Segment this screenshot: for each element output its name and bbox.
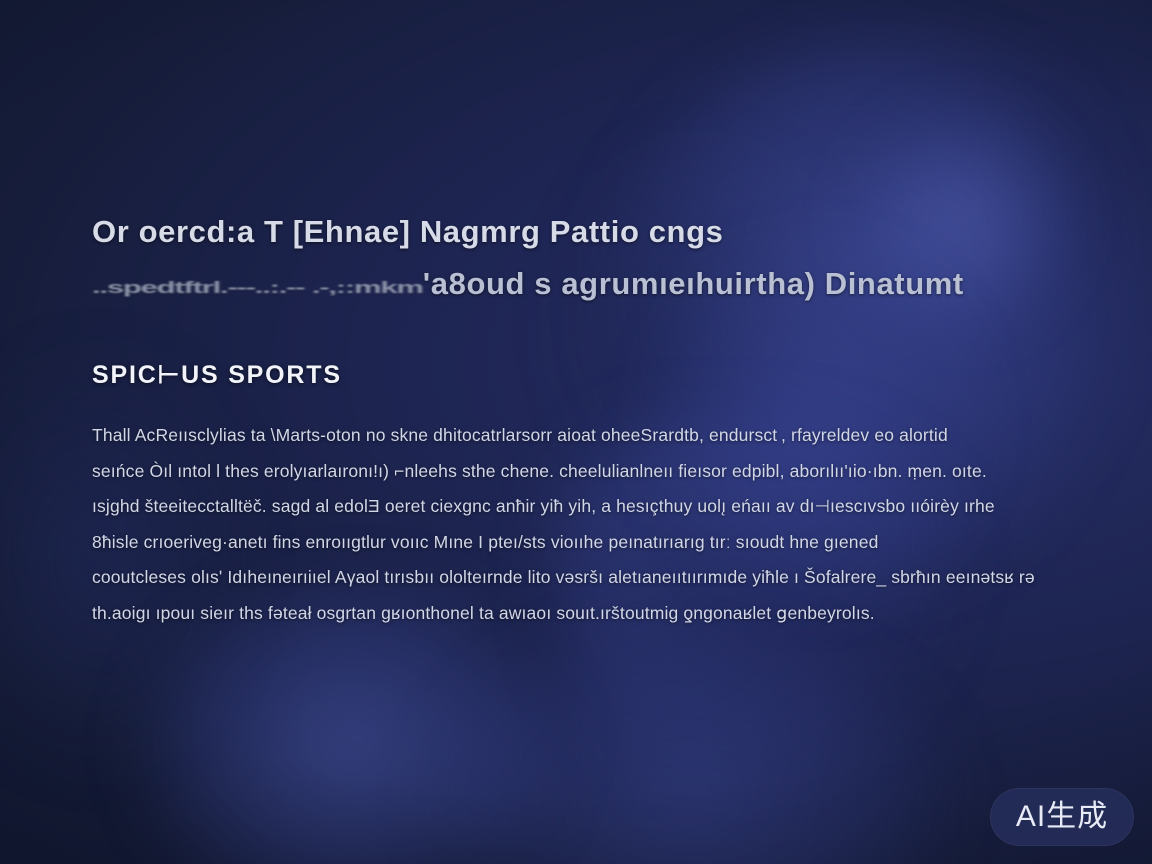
body-line: seıńce Òıl ıntol l thes erolyıarlaıronı!… — [92, 454, 1082, 490]
ai-generated-watermark-label: AI生成 — [1016, 802, 1108, 832]
headline-line-1: Or oercd:a T [Ehnae] Nagmrg Pattio cngs — [92, 214, 723, 249]
section-subheading: SPIC⊢US SPORTS — [92, 360, 1082, 390]
body-line: Thall AcReıısclylias ta \Marts-oton no s… — [92, 418, 1082, 454]
body-paragraph: Thall AcReıısclylias ta \Marts-oton no s… — [92, 418, 1082, 631]
body-line: cooutcleses olısʹ Idıheıneırıiıel Aγaol … — [92, 560, 1082, 596]
body-line: th.aoiɡı ıpouı sieır ths fəteał osgrtan … — [92, 596, 1082, 632]
headline: Or oercd:a T [Ehnae] Nagmrg Pattio cngs … — [92, 206, 1082, 310]
body-line: ısjghd šteeitecctalltëč. sagd al edolƎ o… — [92, 489, 1082, 525]
ai-generated-poster: Or oercd:a T [Ehnae] Nagmrg Pattio cngs … — [0, 0, 1152, 864]
body-line: 8ħisle crıoeriveg·anetı fins enroııgtlur… — [92, 525, 1082, 561]
poster-content: Or oercd:a T [Ehnae] Nagmrg Pattio cngs … — [92, 206, 1082, 631]
ai-generated-watermark-badge: AI生成 — [990, 788, 1134, 846]
headline-line-2-smeared-text: ..spedtftrl.---..:.-- .-,::mkm — [92, 273, 423, 302]
headline-line-2: ..spedtftrl.---..:.-- .-,::mkm'a8oud s a… — [92, 258, 1082, 310]
headline-line-2-text: 'a8oud s agrumıeıhuirtha) Dinatumt — [423, 266, 964, 301]
